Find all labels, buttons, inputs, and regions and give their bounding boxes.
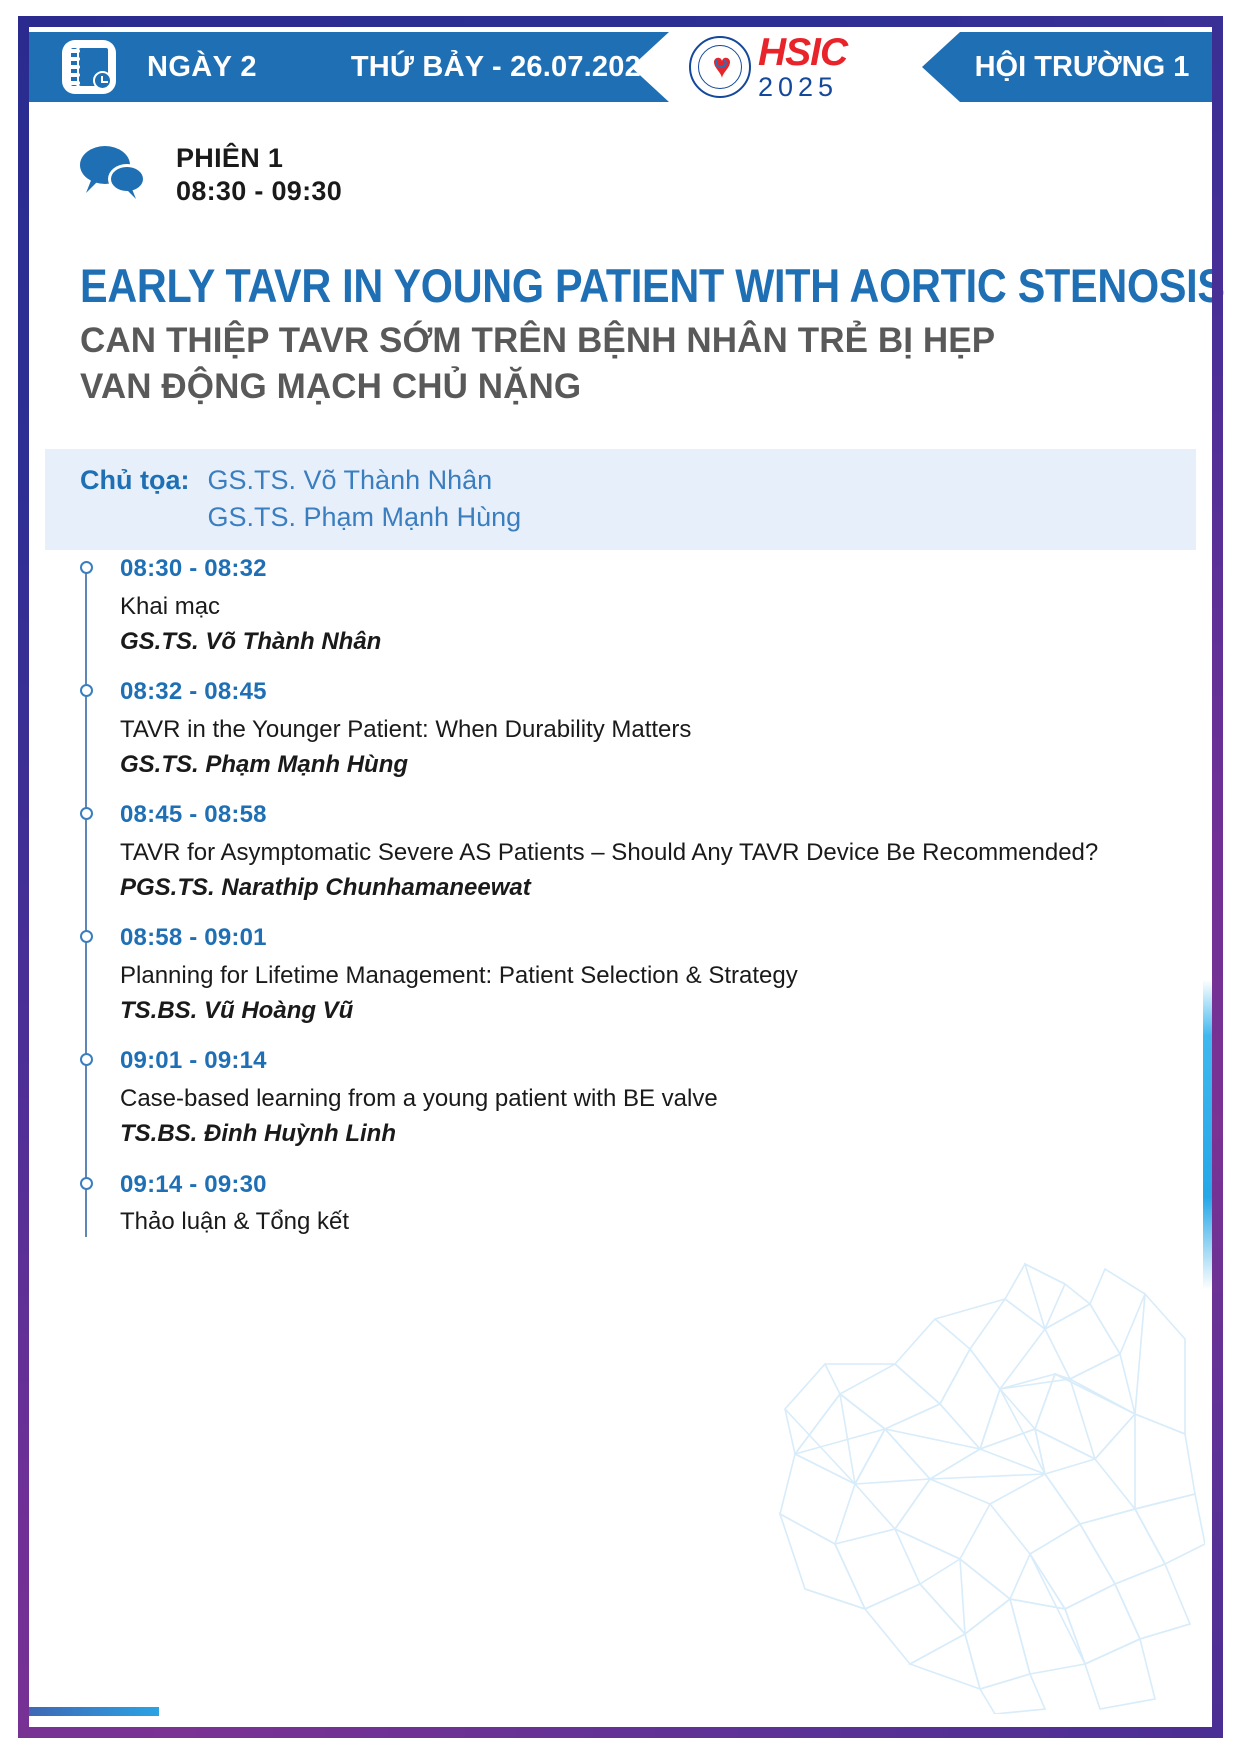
session-time: 08:30 - 09:30 — [176, 175, 342, 208]
page-header: NGÀY 2 THỨ BẢY - 26.07.2025 HSIC 2025 HỘ… — [29, 32, 1212, 102]
timeline-dot-icon — [80, 1053, 93, 1066]
program-page: NGÀY 2 THỨ BẢY - 26.07.2025 HSIC 2025 HỘ… — [0, 0, 1241, 1754]
timeline-dot-icon — [80, 807, 93, 820]
header-date-label: THỨ BẢY - 26.07.2025 — [351, 51, 657, 84]
agenda-item-topic: Khai mạc — [120, 591, 1160, 623]
chair-name: GS.TS. Phạm Mạnh Hùng — [207, 499, 521, 536]
agenda-item-speaker: PGS.TS. Narathip Chunhamaneewat — [120, 872, 1160, 904]
chairs-label: Chủ tọa: — [80, 462, 189, 499]
header-day-label: NGÀY 2 — [147, 51, 257, 84]
agenda-item: 09:14 - 09:30 Thảo luận & Tổng kết — [80, 1171, 1160, 1259]
agenda-item-topic: Case-based learning from a young patient… — [120, 1083, 1160, 1115]
session-title-vietnamese: CAN THIỆP TAVR SỚM TRÊN BỆNH NHÂN TRẺ BỊ… — [80, 318, 1070, 410]
logo-name: HSIC — [758, 33, 847, 72]
header-left-chevron: NGÀY 2 THỨ BẢY - 26.07.2025 — [29, 32, 669, 102]
agenda-item-speaker: TS.BS. Vũ Hoàng Vũ — [120, 995, 1160, 1027]
agenda-item-speaker: GS.TS. Võ Thành Nhân — [120, 626, 1160, 658]
agenda-item: 08:58 - 09:01 Planning for Lifetime Mana… — [80, 924, 1160, 1047]
agenda-item: 08:30 - 08:32 Khai mạc GS.TS. Võ Thành N… — [80, 555, 1160, 678]
hsic-logo: HSIC 2025 — [689, 32, 847, 102]
notebook-clock-icon — [62, 40, 116, 94]
agenda-item-time: 08:32 - 08:45 — [120, 678, 1160, 707]
agenda-item-topic: Planning for Lifetime Management: Patien… — [120, 960, 1160, 992]
speech-bubbles-icon — [80, 146, 146, 202]
timeline-dot-icon — [80, 1177, 93, 1190]
agenda-item-time: 09:14 - 09:30 — [120, 1171, 1160, 1200]
session-title-english: EARLY TAVR IN YOUNG PATIENT WITH AORTIC … — [80, 258, 1022, 313]
agenda-item-time: 08:58 - 09:01 — [120, 924, 1160, 953]
agenda-item: 09:01 - 09:14 Case-based learning from a… — [80, 1047, 1160, 1170]
timeline-dot-icon — [80, 684, 93, 697]
heart-vessel-icon — [707, 53, 737, 83]
agenda-item: 08:45 - 08:58 TAVR for Asymptomatic Seve… — [80, 801, 1160, 924]
agenda-timeline: 08:30 - 08:32 Khai mạc GS.TS. Võ Thành N… — [80, 555, 1160, 1259]
accent-bar-right — [1203, 980, 1212, 1290]
chairs-names: GS.TS. Võ Thành Nhân GS.TS. Phạm Mạnh Hù… — [207, 462, 521, 537]
agenda-item-topic: TAVR for Asymptomatic Severe AS Patients… — [120, 837, 1120, 869]
chairs-band: Chủ tọa: GS.TS. Võ Thành Nhân GS.TS. Phạ… — [45, 449, 1196, 550]
accent-bar-bottom — [29, 1707, 159, 1716]
agenda-item: 08:32 - 08:45 TAVR in the Younger Patien… — [80, 678, 1160, 801]
header-right-chevron: HỘI TRƯỜNG 1 — [922, 32, 1212, 102]
timeline-dot-icon — [80, 930, 93, 943]
agenda-item-speaker: TS.BS. Đinh Huỳnh Linh — [120, 1118, 1160, 1150]
agenda-item-topic: TAVR in the Younger Patient: When Durabi… — [120, 714, 1160, 746]
agenda-item-time: 08:45 - 08:58 — [120, 801, 1160, 830]
agenda-item-speaker: GS.TS. Phạm Mạnh Hùng — [120, 749, 1160, 781]
agenda-item-topic: Thảo luận & Tổng kết — [120, 1206, 1160, 1238]
session-meta: PHIÊN 1 08:30 - 09:30 — [80, 142, 342, 209]
agenda-item-time: 09:01 - 09:14 — [120, 1047, 1160, 1076]
session-name: PHIÊN 1 — [176, 142, 342, 175]
chair-name: GS.TS. Võ Thành Nhân — [207, 462, 521, 499]
header-hall-label: HỘI TRƯỜNG 1 — [975, 51, 1190, 84]
agenda-item-time: 08:30 - 08:32 — [120, 555, 1160, 584]
timeline-dot-icon — [80, 561, 93, 574]
logo-year: 2025 — [758, 74, 847, 101]
hsic-seal-icon — [689, 36, 751, 98]
